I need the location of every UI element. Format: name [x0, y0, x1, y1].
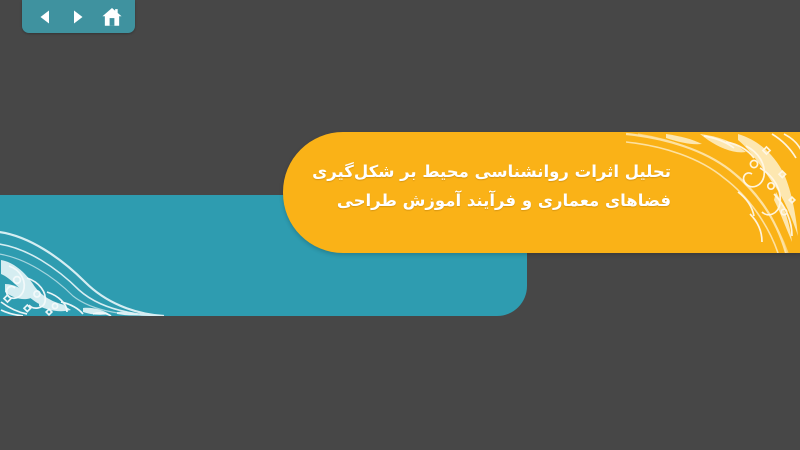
home-button[interactable]	[99, 4, 125, 30]
page-title: تحلیل اثرات روانشناسی محیط بر شکل‌گیری ف…	[341, 158, 671, 216]
slide-canvas: تحلیل اثرات روانشناسی محیط بر شکل‌گیری ف…	[0, 0, 800, 450]
title-banner: تحلیل اثرات روانشناسی محیط بر شکل‌گیری ف…	[283, 132, 800, 253]
page-title-line-2: فضاهای معماری و فرآیند آموزش طراحی	[341, 187, 671, 216]
home-icon	[101, 6, 123, 28]
arabesque-ornament-bottom-left-icon	[0, 196, 164, 316]
triangle-right-icon	[69, 8, 87, 26]
forward-button[interactable]	[65, 4, 91, 30]
back-button[interactable]	[32, 4, 58, 30]
triangle-left-icon	[36, 8, 54, 26]
page-title-line-1: تحلیل اثرات روانشناسی محیط بر شکل‌گیری	[341, 158, 671, 187]
navigation-bar	[22, 0, 135, 33]
